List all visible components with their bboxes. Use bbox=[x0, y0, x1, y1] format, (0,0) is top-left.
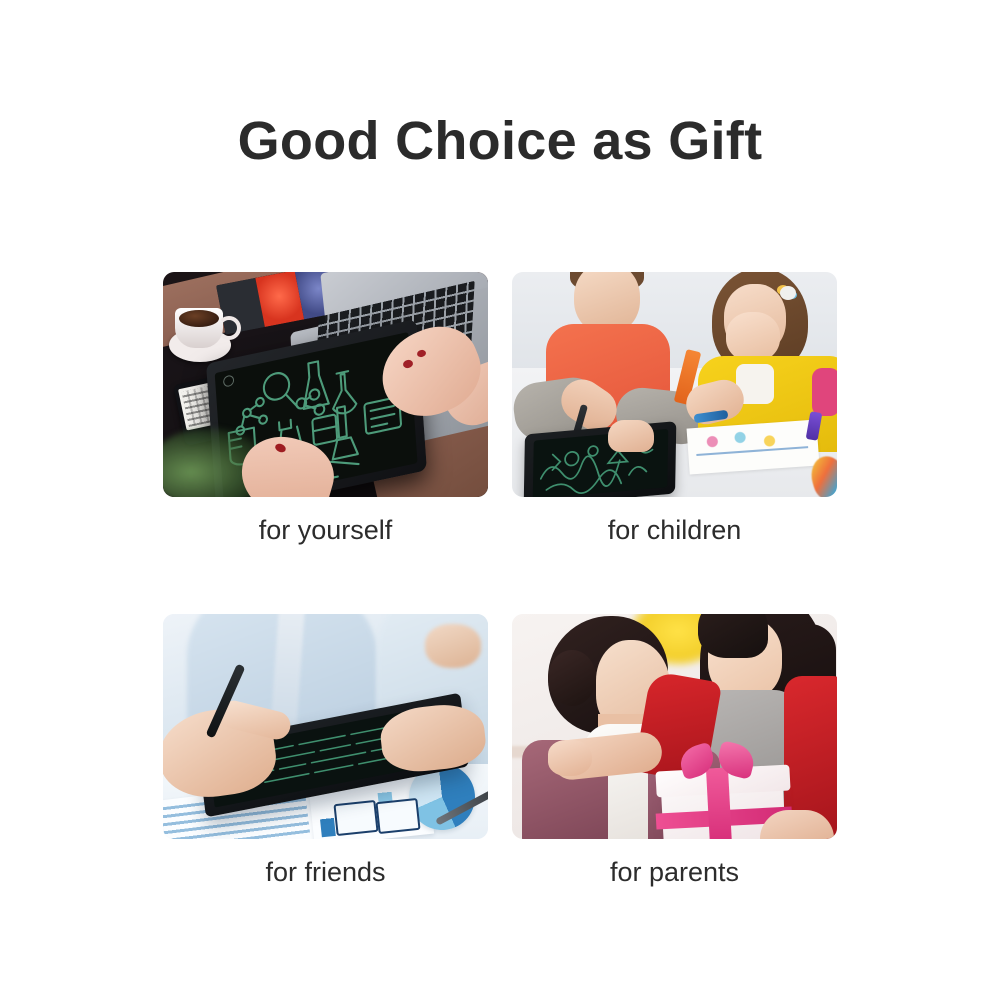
product-gallery-page: Good Choice as Gift bbox=[0, 0, 1000, 1000]
boy-hand-on-tablet bbox=[608, 420, 654, 452]
page-title: Good Choice as Gift bbox=[0, 110, 1000, 172]
caption-for-children: for children bbox=[512, 516, 837, 546]
gallery-grid: for yourself bbox=[163, 272, 838, 887]
background-hand bbox=[425, 624, 481, 668]
gallery-row-2: for friends bbox=[163, 614, 838, 888]
document-label-2 bbox=[375, 798, 420, 834]
gallery-item-for-parents[interactable]: for parents bbox=[512, 614, 837, 888]
caption-for-yourself: for yourself bbox=[163, 516, 488, 546]
childrens-drawing-paper bbox=[687, 420, 820, 475]
cup-handle bbox=[217, 316, 241, 340]
gallery-item-for-friends[interactable]: for friends bbox=[163, 614, 488, 888]
daughter-hair-front bbox=[698, 614, 768, 658]
coffee-liquid bbox=[179, 310, 219, 327]
photo-for-friends[interactable] bbox=[163, 614, 488, 839]
gallery-row-1: for yourself bbox=[163, 272, 838, 546]
girl-face bbox=[726, 312, 780, 362]
girl-pink-trim bbox=[812, 368, 837, 416]
gift-ribbon-vertical bbox=[706, 767, 732, 839]
photo-for-parents[interactable] bbox=[512, 614, 837, 839]
caption-for-friends: for friends bbox=[163, 858, 488, 888]
girl-hair-clip bbox=[780, 286, 796, 300]
gallery-item-for-children[interactable]: for children bbox=[512, 272, 837, 546]
document-label-1 bbox=[333, 800, 378, 836]
daughter-hand bbox=[548, 740, 592, 776]
photo-for-yourself[interactable] bbox=[163, 272, 488, 497]
photo-for-children[interactable] bbox=[512, 272, 837, 497]
gallery-item-for-yourself[interactable]: for yourself bbox=[163, 272, 488, 546]
caption-for-parents: for parents bbox=[512, 858, 837, 888]
mother-hair-bun bbox=[548, 650, 596, 706]
